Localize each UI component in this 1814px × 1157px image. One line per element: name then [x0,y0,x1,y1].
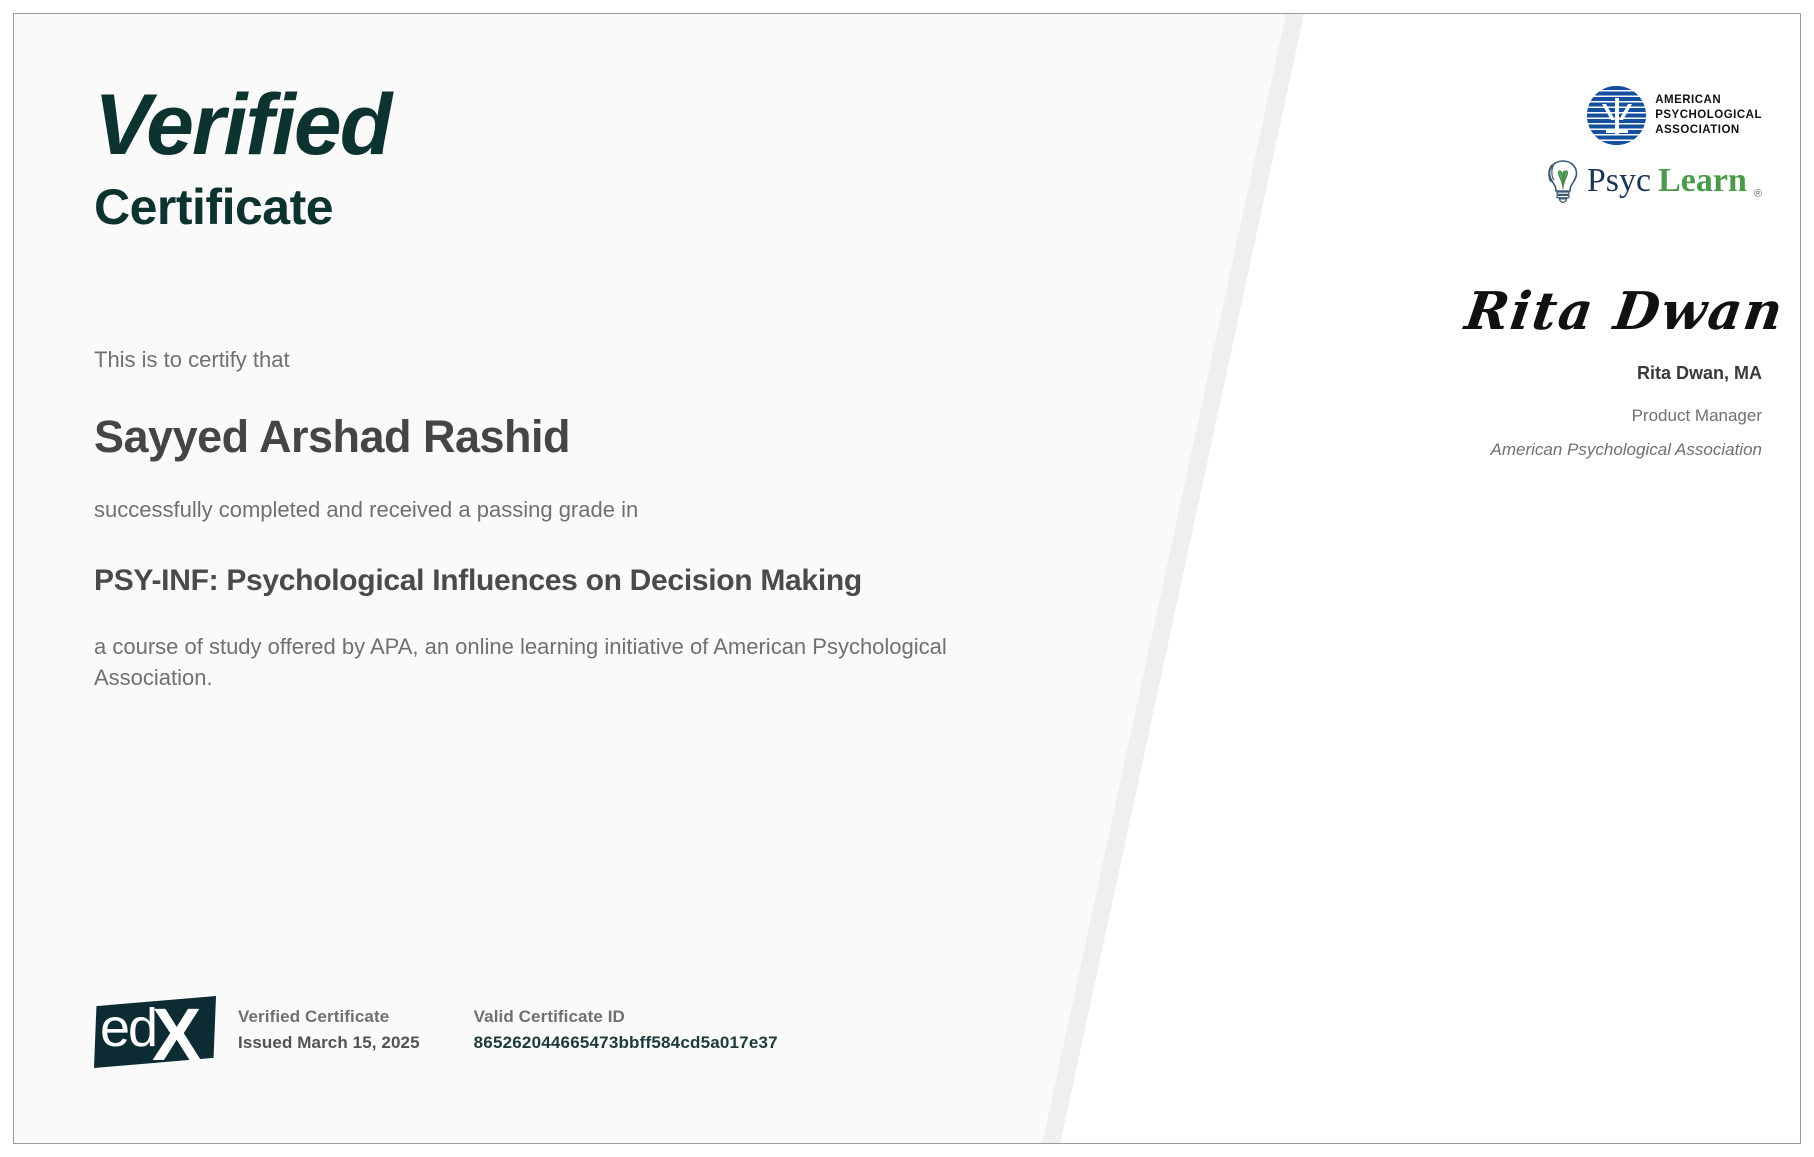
apa-word-association: ASSOCIATION [1655,123,1762,138]
certify-lead-text: This is to certify that [94,344,994,376]
apa-wordmark: AMERICAN PSYCHOLOGICAL ASSOCIATION [1655,93,1762,139]
certificate-title-block: Verified Certificate [94,82,390,239]
apa-logo: AMERICAN PSYCHOLOGICAL ASSOCIATION [1542,86,1762,145]
right-content-area: AMERICAN PSYCHOLOGICAL ASSOCIATION [1280,14,1800,1144]
edx-logo-ed-text: ed [100,1001,156,1055]
grade-statement: successfully completed and received a pa… [94,494,994,526]
signatory-role: Product Manager [1462,403,1762,429]
course-title: PSY-INF: Psychological Influences on Dec… [94,562,994,600]
left-content-area: Verified Certificate This is to certify … [14,14,1054,1144]
certificate-type-label: Verified Certificate [238,1004,420,1030]
organization-logos: AMERICAN PSYCHOLOGICAL ASSOCIATION [1542,86,1762,203]
signatory-name: Rita Dwan, MA [1462,360,1762,387]
certificate-type-column: Verified Certificate Issued March 15, 20… [238,996,420,1057]
edx-logo-icon: ed X [94,996,216,1068]
certificate-body: This is to certify that Sayyed Arshad Ra… [94,344,994,693]
psyclearn-word-psyc: Psyc [1587,164,1651,198]
page-title-verified: Verified [94,82,390,168]
apa-psi-circle-icon [1587,86,1646,145]
certificate-footer: ed X Verified Certificate Issued March 1… [94,996,832,1068]
recipient-name: Sayyed Arshad Rashid [94,412,994,462]
signature-image: Rita Dwan [1462,286,1769,338]
certificate-frame: Verified Certificate This is to certify … [13,13,1801,1144]
apa-word-psychological: PSYCHOLOGICAL [1655,108,1762,123]
psyclearn-logo: PsycLearn® [1542,159,1762,203]
psyclearn-word-learn: Learn [1658,164,1747,198]
certificate-id-value: 865262044665473bbff584cd5a017e37 [474,1030,778,1056]
apa-word-american: AMERICAN [1655,93,1762,108]
certificate-issued-date: Issued March 15, 2025 [238,1030,420,1056]
registered-trademark-icon: ® [1754,188,1762,203]
certificate-id-column: Valid Certificate ID 865262044665473bbff… [474,996,778,1057]
edx-logo-x-text: X [152,998,198,1072]
psi-symbol-icon [1598,96,1636,136]
signature-block: Rita Dwan Rita Dwan, MA Product Manager … [1462,286,1762,462]
signatory-organization: American Psychological Association [1462,437,1762,463]
certificate-id-label: Valid Certificate ID [474,1004,778,1030]
course-description: a course of study offered by APA, an onl… [94,631,994,693]
page-title-certificate: Certificate [94,176,390,239]
lightbulb-icon [1546,159,1580,203]
